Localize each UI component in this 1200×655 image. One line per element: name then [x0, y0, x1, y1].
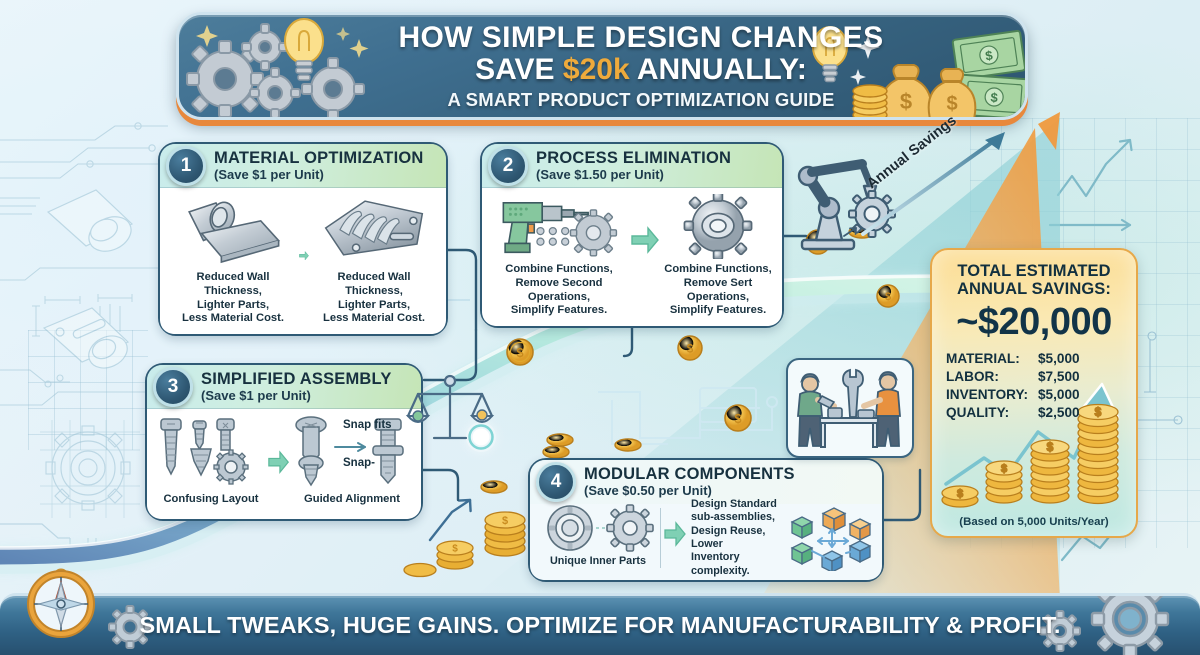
savings-row-value: $5,000 [1038, 386, 1080, 404]
step-badge-3: 3 [153, 367, 193, 407]
arrow-right-icon [663, 508, 689, 568]
workers-at-bench-icon [786, 358, 914, 458]
card-4-divider [660, 508, 661, 568]
infographic-canvas: $ $ $ $ $ [0, 0, 1200, 655]
footer-banner: SMALL TWEAKS, HUGE GAINS. OPTIMIZE FOR M… [0, 593, 1200, 655]
power-drill-and-gear-icon [490, 194, 628, 259]
header-text-block: HOW SIMPLE DESIGN CHANGES SAVE $20k ANNU… [320, 21, 883, 111]
header-line-2-prefix: SAVE [475, 53, 563, 86]
arrow-right-icon [628, 216, 662, 290]
step-badge-2: 2 [488, 146, 528, 186]
svg-text:$: $ [1001, 463, 1007, 475]
annual-savings-arrow: Annual Savings [853, 122, 1043, 240]
svg-text:$: $ [946, 93, 957, 115]
modular-cubes-network-icon [788, 505, 874, 571]
savings-title-line-1: TOTAL ESTIMATED [932, 262, 1136, 280]
header-line-1: HOW SIMPLE DESIGN CHANGES [398, 21, 883, 55]
svg-text:$: $ [957, 488, 963, 500]
single-gear-icon [663, 194, 773, 259]
card-title-1: MATERIAL OPTIMIZATION [214, 150, 424, 167]
card-4-before-caption: Unique Inner Parts [550, 555, 646, 568]
compass-icon [18, 556, 104, 642]
card-subtitle-2: (Save $1.50 per Unit) [536, 168, 731, 181]
savings-row-label: INVENTORY: [946, 386, 1038, 404]
savings-row-label: LABOR: [946, 368, 1038, 386]
balance-scale-icon [404, 368, 496, 460]
card-3-before: Confusing Layout [155, 415, 267, 511]
savings-row: QUALITY: $2,500 [946, 404, 1136, 422]
card-body-3: Confusing Layout [147, 409, 421, 519]
card-2-before-caption: Combine Functions, Remove Second Operati… [490, 263, 628, 318]
total-savings-panel: $ $ [930, 248, 1138, 538]
step-card-material-optimization[interactable]: 1 MATERIAL OPTIMIZATION (Save $1 per Uni… [158, 142, 448, 336]
card-title-4: MODULAR COMPONENTS [584, 466, 795, 483]
step-badge-1: 1 [166, 146, 206, 186]
card-2-after: Combine Functions, Remove Sert Operation… [662, 194, 774, 318]
savings-row-value: $2,500 [1038, 404, 1080, 422]
workers-illustration [788, 360, 912, 456]
savings-title-line-2: ANNUAL SAVINGS: [932, 280, 1136, 298]
card-3-annotation-top: Snap fits [343, 419, 392, 431]
savings-breakdown-list: MATERIAL: $5,000 LABOR: $7,500 INVENTORY… [946, 350, 1136, 422]
card-title-3: SIMPLIFIED ASSEMBLY [201, 371, 392, 388]
card-4-after-caption: Design Standard sub-assemblies, Design R… [691, 498, 788, 578]
card-4-after: Design Standard sub-assemblies, Design R… [689, 504, 788, 572]
card-2-after-caption: Combine Functions, Remove Sert Operation… [662, 263, 774, 318]
card-3-annotation-bottom: Snap- [343, 457, 375, 469]
header-line-2: SAVE $20k ANNUALLY: [398, 53, 883, 87]
card-title-2: PROCESS ELIMINATION [536, 150, 731, 167]
ribbed-stamped-bracket-icon [310, 194, 438, 267]
card-3-after-caption: Guided Alignment [304, 493, 400, 507]
card-body-4: Unique Inner Parts Design Standard sub-a… [530, 504, 882, 580]
savings-row-value: $7,500 [1038, 368, 1080, 386]
step-card-modular-components[interactable]: 4 MODULAR COMPONENTS (Save $0.50 per Uni… [528, 458, 884, 582]
savings-row: INVENTORY: $5,000 [946, 386, 1136, 404]
card-1-before: Reduced Wall Thickness, Lighter Parts, L… [168, 194, 298, 326]
assorted-screws-icon [155, 415, 267, 489]
footer-tagline: SMALL TWEAKS, HUGE GAINS. OPTIMIZE FOR M… [140, 612, 1061, 639]
card-subtitle-1: (Save $1 per Unit) [214, 168, 424, 181]
card-1-after-caption: Reduced Wall Thickness, Lighter Parts, L… [310, 271, 438, 326]
savings-row-label: QUALITY: [946, 404, 1038, 422]
bearing-and-gear-icon [542, 504, 654, 554]
card-subtitle-3: (Save $1 per Unit) [201, 389, 392, 402]
savings-total-amount: ~$20,000 [932, 301, 1136, 344]
header-banner: HOW SIMPLE DESIGN CHANGES SAVE $20k ANNU… [176, 12, 1028, 120]
savings-basis-note: (Based on 5,000 Units/Year) [932, 516, 1136, 528]
savings-row-value: $5,000 [1038, 350, 1080, 368]
card-subtitle-4: (Save $0.50 per Unit) [584, 484, 795, 497]
card-4-before: Unique Inner Parts [538, 504, 658, 572]
header-line-3: A SMART PRODUCT OPTIMIZATION GUIDE [398, 89, 883, 111]
metal-tube-and-sheet-icon [168, 194, 298, 267]
savings-row: LABOR: $7,500 [946, 368, 1136, 386]
card-3-after: Guided Alignment Snap fits Snap- [291, 415, 413, 511]
card-3-before-caption: Confusing Layout [163, 493, 258, 507]
card-1-before-caption: Reduced Wall Thickness, Lighter Parts, L… [168, 271, 298, 326]
savings-row-label: MATERIAL: [946, 350, 1038, 368]
savings-row: MATERIAL: $5,000 [946, 350, 1136, 368]
arrow-right-icon [298, 220, 310, 302]
card-2-before: Combine Functions, Remove Second Operati… [490, 194, 628, 318]
svg-text:$: $ [900, 89, 912, 114]
header-savings-amount: $20k [563, 53, 630, 86]
header-line-2-suffix: ANNUALLY: [630, 53, 807, 86]
card-1-after: Reduced Wall Thickness, Lighter Parts, L… [310, 194, 438, 326]
card-body-2: Combine Functions, Remove Second Operati… [482, 188, 782, 326]
svg-text:$: $ [1047, 440, 1054, 454]
step-badge-4: 4 [536, 462, 576, 502]
step-card-simplified-assembly[interactable]: 3 SIMPLIFIED ASSEMBLY (Save $1 per Unit) [145, 363, 423, 521]
arrow-right-icon [267, 439, 291, 513]
step-card-process-elimination[interactable]: 2 PROCESS ELIMINATION (Save $1.50 per Un… [480, 142, 784, 328]
card-body-1: Reduced Wall Thickness, Lighter Parts, L… [160, 188, 446, 334]
